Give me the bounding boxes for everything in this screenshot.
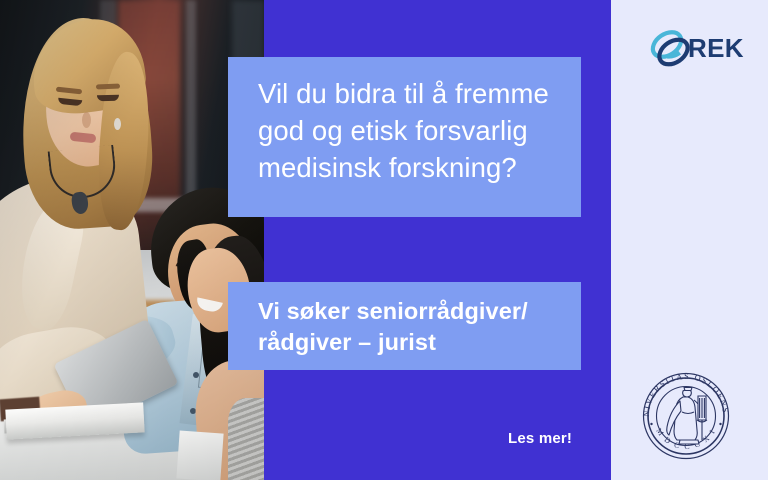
rek-recruitment-banner: Vil du bidra til å fremme god og etisk f… (0, 0, 768, 480)
rek-logo: REK (648, 27, 738, 73)
headline-box: Vil du bidra til å fremme god og etisk f… (228, 57, 581, 217)
hero-photo (0, 0, 265, 480)
uio-seal: UNIVERSITAS OSLOENSIS M D C C C X I (636, 366, 736, 466)
photo-shading-overlay (0, 0, 265, 480)
uio-seal-icon: UNIVERSITAS OSLOENSIS M D C C C X I (636, 366, 736, 466)
job-title-text: Vi søker seniorrådgiver/ rådgiver – juri… (258, 296, 555, 358)
job-title-box: Vi søker seniorrådgiver/ rådgiver – juri… (228, 282, 581, 370)
read-more-link[interactable]: Les mer! (508, 430, 572, 447)
headline-text: Vil du bidra til å fremme god og etisk f… (258, 75, 555, 186)
rek-wordmark: REK (688, 35, 744, 61)
